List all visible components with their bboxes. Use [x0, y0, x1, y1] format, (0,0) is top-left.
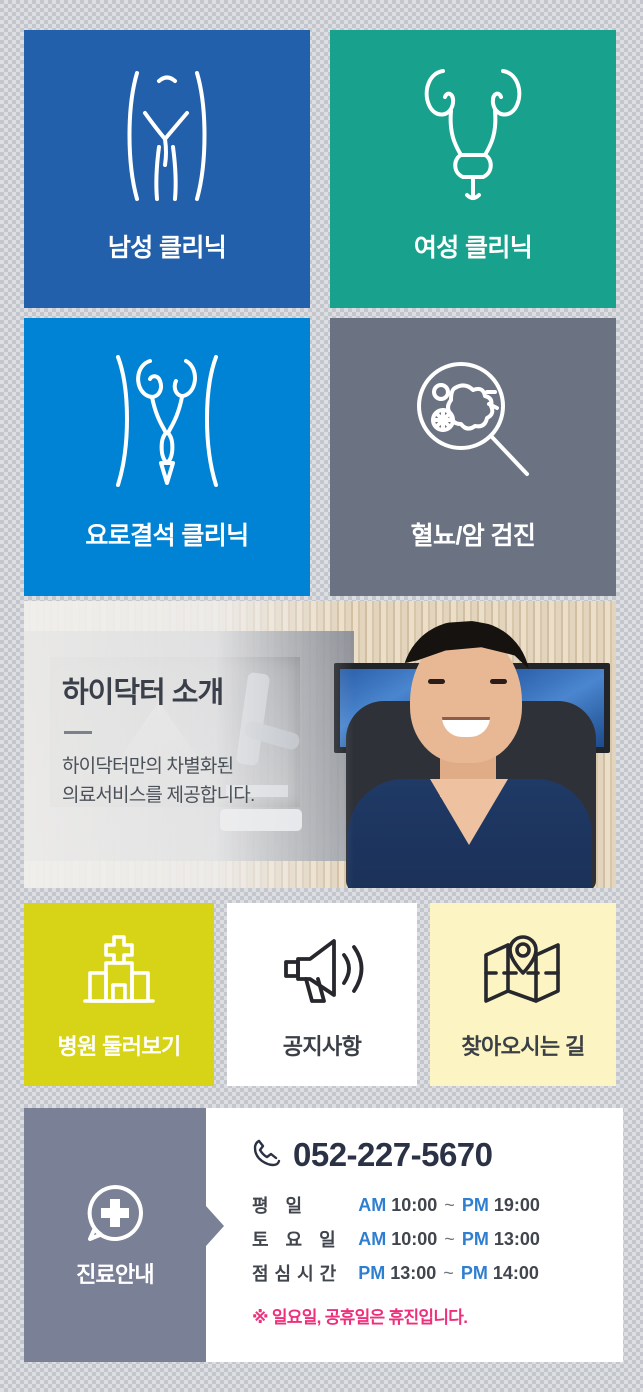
end-time: 14:00: [493, 1263, 539, 1283]
end-period: PM: [462, 1229, 489, 1249]
start-period: AM: [358, 1195, 386, 1215]
hours-time: AM10:00~PM19:00: [358, 1188, 540, 1222]
banner-subtitle-line2: 의료서비스를 제공합니다.: [62, 785, 254, 806]
closed-days-notice: ※ 일요일, 공휴일은 휴진입니다.: [252, 1303, 623, 1328]
phone-row[interactable]: 052-227-5670: [252, 1136, 623, 1174]
end-time: 19:00: [494, 1195, 540, 1215]
hours-day: 점심시간: [252, 1256, 358, 1290]
business-hours-table: 평 일 AM10:00~PM19:00 토 요 일 AM10:00~PM13:0…: [252, 1188, 540, 1290]
panel-arrow: [206, 1206, 224, 1246]
mobile-home-page: 남성 클리닉 여성 클리닉: [0, 0, 643, 1392]
map-pin-icon: [478, 923, 568, 1021]
end-time: 13:00: [494, 1229, 540, 1249]
clinic-tile-label: 혈뇨/암 검진: [411, 516, 536, 552]
time-separator: ~: [444, 1195, 455, 1215]
clinic-tile-cancer-screening[interactable]: 혈뇨/암 검진: [330, 318, 616, 596]
quick-tile-directions[interactable]: 찾아오시는 길: [430, 903, 616, 1086]
megaphone-icon: [276, 923, 368, 1021]
hours-day: 토 요 일: [252, 1222, 358, 1256]
start-time: 10:00: [391, 1229, 437, 1249]
start-period: PM: [358, 1263, 385, 1283]
contact-card: 052-227-5670 평 일 AM10:00~PM19:00 토 요 일 A…: [206, 1108, 623, 1362]
urinary-stone-icon: [102, 342, 232, 502]
hospital-icon: [76, 923, 162, 1021]
hours-row: 점심시간 PM13:00~PM14:00: [252, 1256, 540, 1290]
clinic-tile-label: 남성 클리닉: [108, 228, 226, 264]
kidney-bladder-icon: [413, 54, 533, 214]
clinic-tile-female[interactable]: 여성 클리닉: [330, 30, 616, 308]
end-period: PM: [462, 1195, 489, 1215]
banner-text-block: 하이닥터 소개 하이닥터만의 차별화된 의료서비스를 제공합니다.: [62, 669, 254, 811]
clinic-tile-label: 요로결석 클리닉: [85, 516, 248, 552]
hours-row: 토 요 일 AM10:00~PM13:00: [252, 1222, 540, 1256]
time-separator: ~: [444, 1229, 455, 1249]
treatment-info-label: 진료안내: [76, 1257, 154, 1289]
banner-subtitle: 하이닥터만의 차별화된 의료서비스를 제공합니다.: [62, 752, 254, 811]
start-time: 13:00: [390, 1263, 436, 1283]
hours-row: 평 일 AM10:00~PM19:00: [252, 1188, 540, 1222]
quick-tile-notice[interactable]: 공지사항: [227, 903, 417, 1086]
treatment-info-panel[interactable]: 진료안내: [24, 1108, 206, 1362]
chat-cross-icon: [84, 1182, 146, 1249]
end-period: PM: [461, 1263, 488, 1283]
banner-divider: [64, 731, 92, 734]
hours-time: PM13:00~PM14:00: [358, 1256, 540, 1290]
phone-number: 052-227-5670: [293, 1136, 493, 1174]
banner-title: 하이닥터 소개: [62, 669, 254, 711]
doctor-portrait: [324, 601, 616, 888]
start-period: AM: [358, 1229, 386, 1249]
quick-tile-label: 찾아오시는 길: [461, 1029, 584, 1061]
quick-tile-hospital-tour[interactable]: 병원 둘러보기: [24, 903, 214, 1086]
clinic-tile-male[interactable]: 남성 클리닉: [24, 30, 310, 308]
male-body-icon: [107, 54, 227, 214]
time-separator: ~: [443, 1263, 454, 1283]
phone-icon: [252, 1138, 282, 1173]
doctor-intro-banner[interactable]: 하이닥터 소개 하이닥터만의 차별화된 의료서비스를 제공합니다.: [24, 601, 616, 888]
quick-tile-label: 공지사항: [283, 1029, 362, 1061]
hours-time: AM10:00~PM13:00: [358, 1222, 540, 1256]
magnifier-cells-icon: [403, 342, 543, 502]
quick-tile-label: 병원 둘러보기: [57, 1029, 180, 1061]
hours-day: 평 일: [252, 1188, 358, 1222]
clinic-tile-urinary-stone[interactable]: 요로결석 클리닉: [24, 318, 310, 596]
contact-section: 진료안내 052-227-5670 평 일 AM10:0: [24, 1108, 623, 1362]
start-time: 10:00: [391, 1195, 437, 1215]
clinic-tile-label: 여성 클리닉: [414, 228, 532, 264]
banner-subtitle-line1: 하이닥터만의 차별화된: [62, 756, 233, 777]
